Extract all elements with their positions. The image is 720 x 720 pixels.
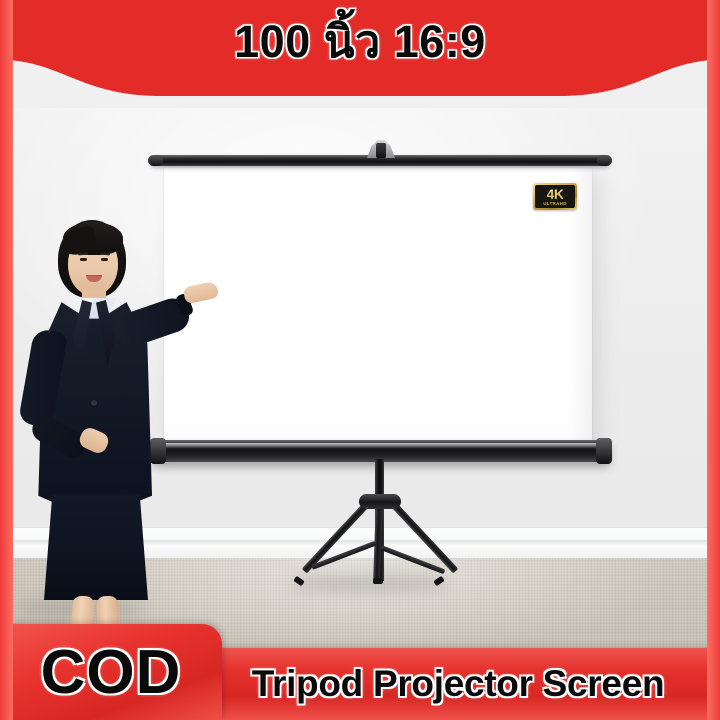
cod-label-text: COD	[0, 624, 222, 720]
four-k-ultrahd-badge: 4K ULTRAHD	[533, 183, 577, 210]
headline-text: 100 นิ้ว 16:9	[0, 0, 720, 82]
top-rod-end-cap-right	[597, 155, 612, 166]
presenter-eye-left	[80, 258, 87, 261]
product-photo-scene: 4K ULTRAHD	[0, 0, 720, 720]
tripod-foot-center	[373, 578, 383, 584]
hook-center-bar	[376, 143, 386, 158]
tripod-floor-shadow	[288, 575, 448, 591]
presenter-eye-right	[101, 258, 108, 261]
tripod-hub-collar	[359, 494, 401, 509]
product-image-canvas: 4K ULTRAHD	[0, 0, 720, 720]
presenter-model	[12, 214, 187, 642]
badge-4k-label: 4K	[547, 187, 564, 201]
projection-surface	[164, 168, 592, 440]
badge-ultrahd-label: ULTRAHD	[543, 202, 567, 207]
badge-inner-plate: 4K ULTRAHD	[535, 185, 575, 208]
presenter-jacket-button	[91, 400, 97, 406]
bottom-housing-cap-right	[596, 438, 612, 464]
product-name-text: Tripod Projector Screen	[196, 648, 720, 720]
presenter-skirt	[44, 494, 148, 600]
top-rod-end-cap-left	[148, 155, 163, 166]
